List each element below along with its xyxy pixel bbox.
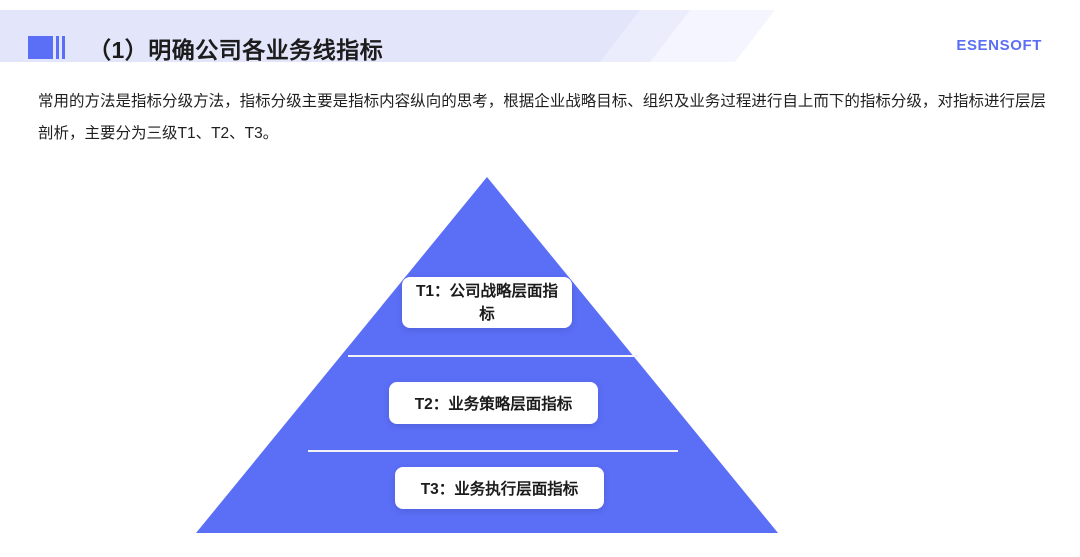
square-bars-icon xyxy=(28,36,74,59)
slide-header: （1）明确公司各业务线指标 ESENSOFT xyxy=(0,10,1080,62)
pyramid-level-t1: T1：公司战略层面指标 xyxy=(402,277,572,328)
pyramid-level-t3: T3：业务执行层面指标 xyxy=(395,467,604,509)
body-paragraph: 常用的方法是指标分级方法，指标分级主要是指标内容纵向的思考，根据企业战略目标、组… xyxy=(38,86,1046,150)
square-bars-icon-bar-2 xyxy=(62,36,65,59)
brand-logo: ESENSOFT xyxy=(956,37,1042,54)
pyramid-divider-1 xyxy=(348,355,638,357)
pyramid-level-t2: T2：业务策略层面指标 xyxy=(389,382,598,424)
slide: （1）明确公司各业务线指标 ESENSOFT 常用的方法是指标分级方法，指标分级… xyxy=(0,0,1080,557)
page-title: （1）明确公司各业务线指标 xyxy=(88,31,383,65)
pyramid-divider-2 xyxy=(308,450,678,452)
square-bars-icon-square xyxy=(28,36,53,59)
pyramid-diagram: T1：公司战略层面指标 T2：业务策略层面指标 T3：业务执行层面指标 xyxy=(0,160,1080,557)
square-bars-icon-bar-1 xyxy=(56,36,59,59)
